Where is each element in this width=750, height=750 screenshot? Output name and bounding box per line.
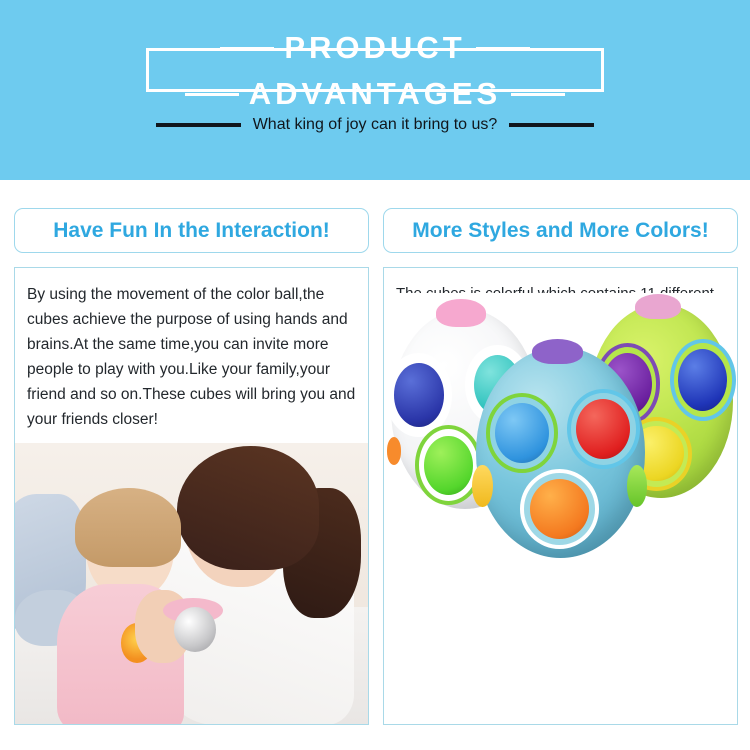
ball-white-button-orange-edge <box>387 437 402 465</box>
ball-white-button-darkblue <box>394 363 444 427</box>
product-advantages-page: PRODUCT ADVANTAGES What king of joy can … <box>0 0 750 750</box>
panel-text-left: By using the movement of the color ball,… <box>15 268 368 432</box>
ball-green-top-nub <box>635 294 681 319</box>
title-rule-left <box>220 47 274 50</box>
photo-toy-ball <box>174 607 216 652</box>
panel-heading-box-left: Have Fun In the Interaction! <box>14 208 369 253</box>
ball-white-top-nub <box>436 299 486 327</box>
header-title: PRODUCT ADVANTAGES <box>0 26 750 116</box>
header-banner: PRODUCT ADVANTAGES What king of joy can … <box>0 0 750 180</box>
ball-blue-button-blue <box>495 403 549 463</box>
title-rule-right-2 <box>511 93 565 96</box>
photo-baby-hair <box>75 488 181 567</box>
title-rule-left-2 <box>185 93 239 96</box>
puzzle-ball-blue <box>476 347 645 558</box>
ball-blue-hole-blue <box>486 393 558 473</box>
ball-blue-button-yellow-edge <box>472 465 492 507</box>
panel-heading-left: Have Fun In the Interaction! <box>53 219 330 243</box>
ball-white-button-green <box>424 436 473 495</box>
ball-blue-top-nub <box>532 339 583 364</box>
ball-blue-hole-red <box>567 389 639 469</box>
balls-photo-scene <box>384 293 737 563</box>
panel-styles-colors: More Styles and More Colors! The cubes i… <box>383 208 738 725</box>
panels-container: Have Fun In the Interaction! By using th… <box>0 180 750 750</box>
panel-interaction: Have Fun In the Interaction! By using th… <box>14 208 369 725</box>
panel-body-left: By using the movement of the color ball,… <box>14 267 369 725</box>
title-rule-right <box>476 47 530 50</box>
title-line-2: ADVANTAGES <box>0 72 750 116</box>
title-text-advantages: ADVANTAGES <box>249 72 501 116</box>
ball-green-button-blue <box>678 349 727 411</box>
title-text-product: PRODUCT <box>284 26 465 70</box>
ball-green-hole-blue <box>670 339 736 421</box>
ball-blue-button-green-edge <box>627 465 647 507</box>
three-rainbow-puzzle-balls-photo <box>384 293 737 563</box>
ball-blue-button-orange <box>530 479 590 539</box>
ball-blue-button-red <box>576 399 630 459</box>
photo-girl-hair <box>177 446 318 570</box>
subtitle-text: What king of joy can it bring to us? <box>253 116 498 134</box>
girl-playing-with-toddler-photo <box>15 443 368 725</box>
subtitle-dash-right <box>509 123 594 127</box>
ball-blue-hole-orange <box>520 469 599 549</box>
title-line-1: PRODUCT <box>0 26 750 70</box>
panel-heading-right: More Styles and More Colors! <box>412 219 708 243</box>
subtitle-dash-left <box>156 123 241 127</box>
panel-body-right: The cubes is colorful,which contains 11 … <box>383 267 738 725</box>
ball-white-hole-darkblue <box>385 353 452 437</box>
panel-heading-box-right: More Styles and More Colors! <box>383 208 738 253</box>
header-subtitle: What king of joy can it bring to us? <box>0 116 750 134</box>
kids-photo-scene <box>15 443 368 725</box>
